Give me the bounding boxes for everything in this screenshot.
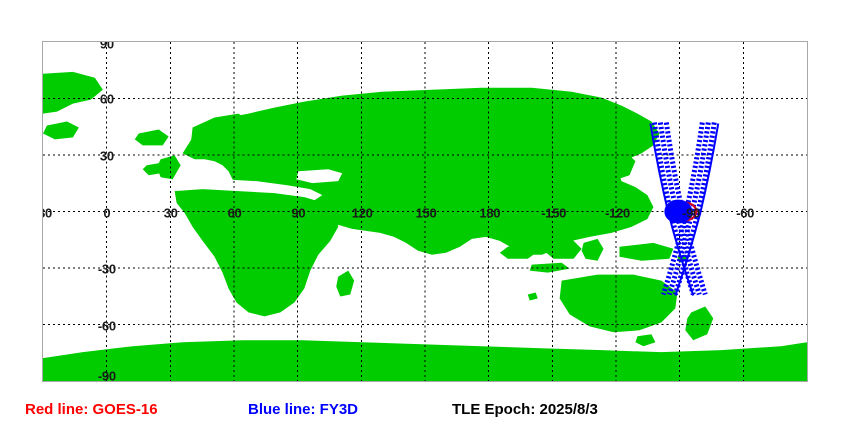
lon-label-minus120: -120 [605,206,630,219]
lon-label-60: 60 [228,206,242,219]
lon-label-minus150: -150 [541,206,566,219]
lon-label-minus60: -60 [736,206,754,219]
lon-label-150: 150 [416,206,437,219]
lon-label-0: 0 [103,206,110,219]
world-map-plot: 90 60 30 -30 -60 -90 -30 0 30 60 90 120 … [42,41,808,382]
lon-label-minus30: -30 [42,206,52,219]
legend-red-line-goes16: Red line: GOES-16 [25,402,158,417]
legend: Red line: GOES-16 Blue line: FY3D TLE Ep… [0,395,850,425]
lat-label-minus30: -30 [98,263,116,276]
lon-label-30: 30 [164,206,178,219]
lon-label-minus90: -90 [682,206,700,219]
lat-label-minus60: -60 [98,320,116,333]
legend-blue-line-fy3d: Blue line: FY3D [248,402,358,417]
lat-label-30: 30 [100,149,114,162]
lon-label-180: 180 [479,206,500,219]
legend-tle-epoch: TLE Epoch: 2025/8/3 [452,402,598,417]
lat-label-90: 90 [100,41,114,51]
lat-label-60: 60 [100,92,114,105]
lon-label-120: 120 [352,206,373,219]
lon-label-90: 90 [291,206,305,219]
map-figure: 90 60 30 -30 -60 -90 -30 0 30 60 90 120 … [0,0,850,425]
lat-label-minus90: -90 [98,370,116,383]
